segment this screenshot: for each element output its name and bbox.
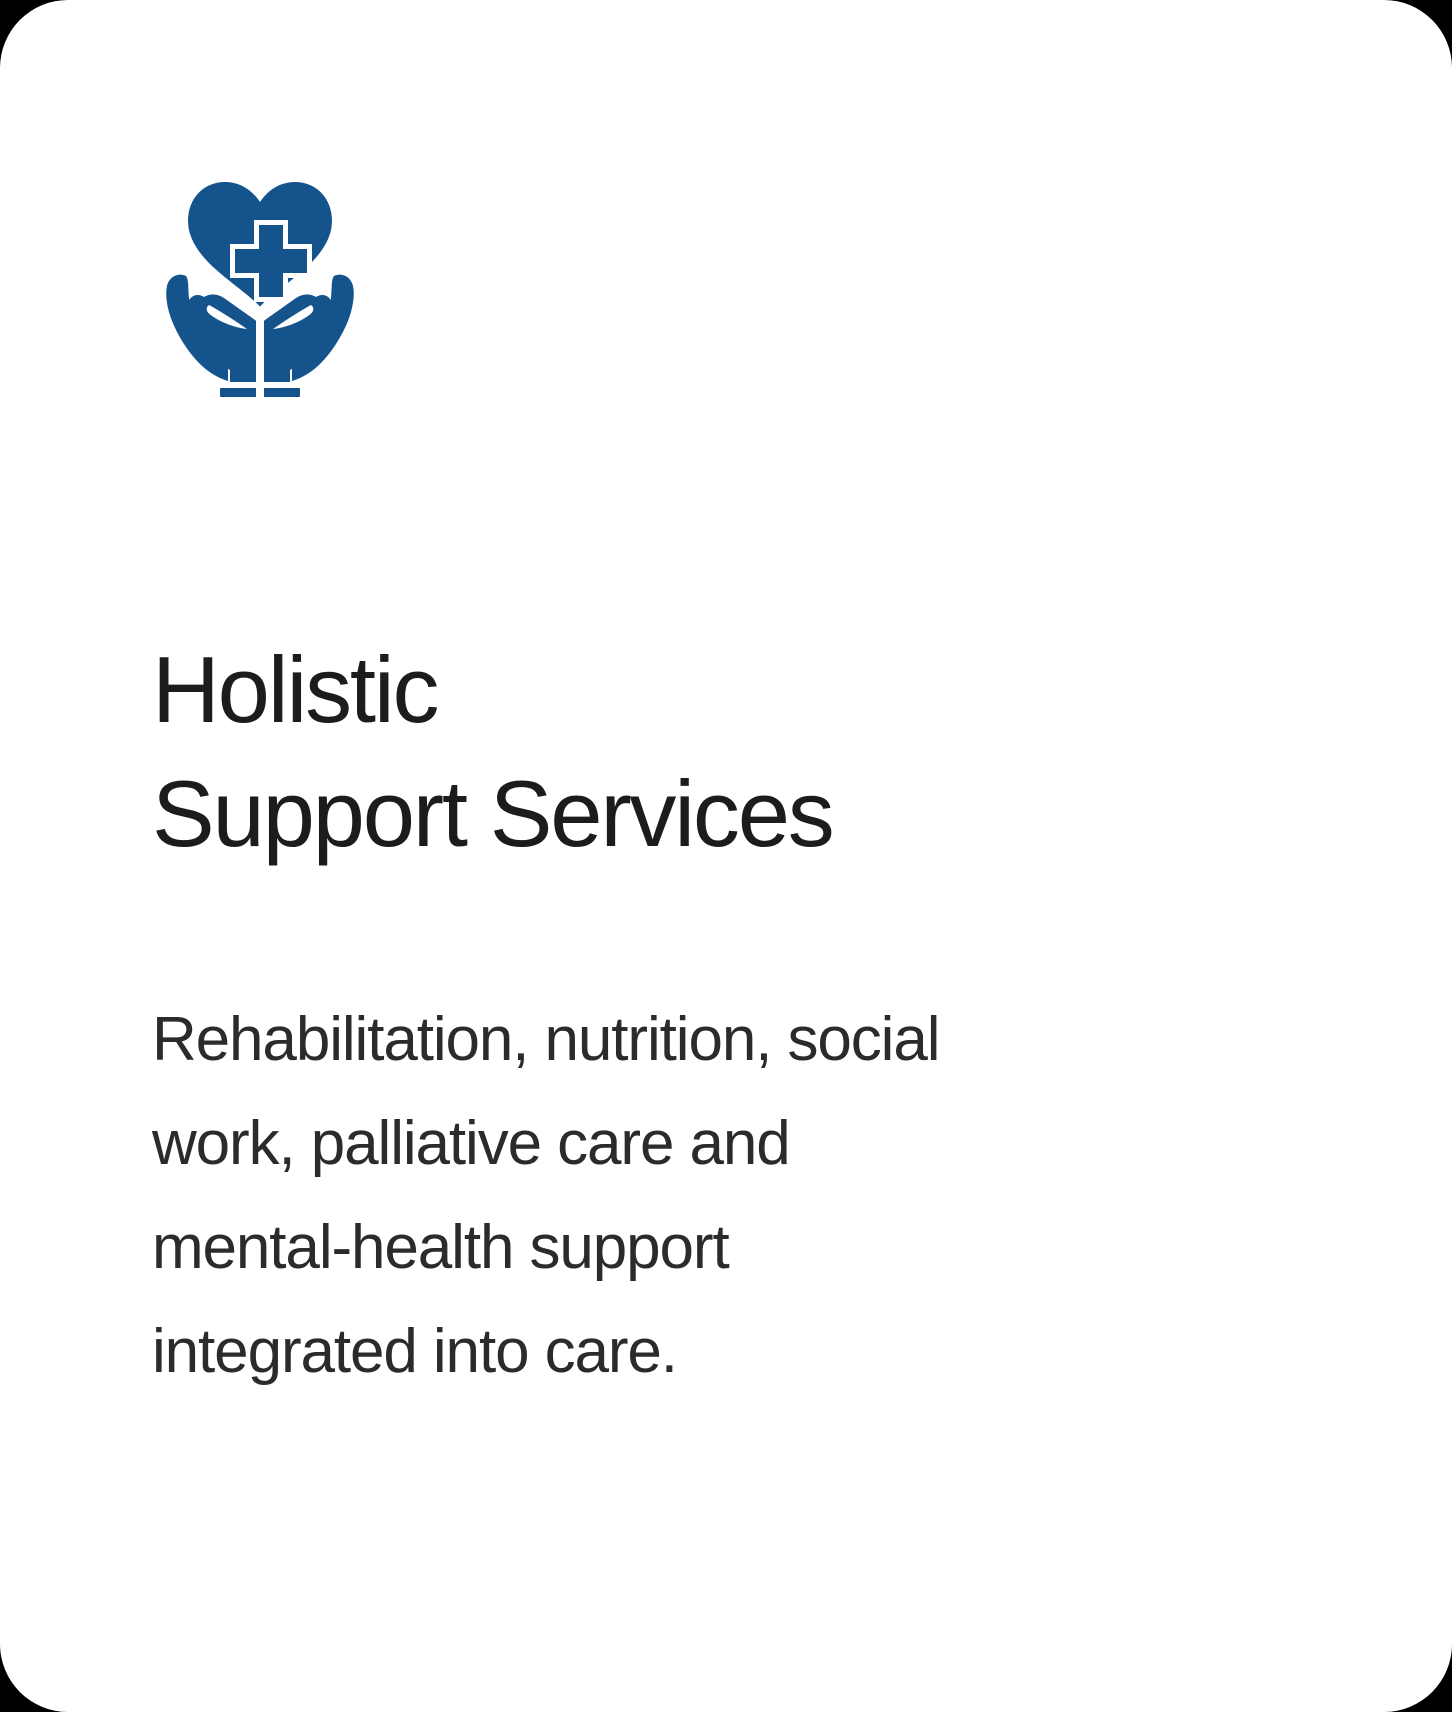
card-description: Rehabilitation, nutrition, social work, …: [152, 988, 1142, 1405]
holistic-support-services-card: Holistic Support Services Rehabilitation…: [0, 0, 1452, 1712]
page-title: Holistic Support Services: [152, 628, 1162, 876]
hands-holding-heart-with-medical-cross-icon: [152, 168, 368, 408]
